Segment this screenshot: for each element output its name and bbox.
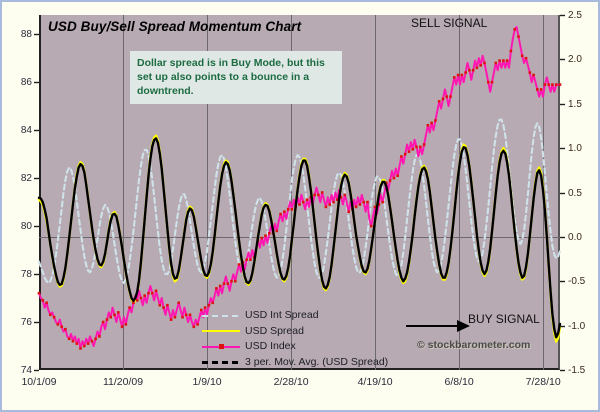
x-axis-label: 7/28/10: [508, 376, 578, 388]
series-marker-usd-index: [170, 318, 173, 321]
legend-swatch: [202, 341, 240, 353]
x-axis-label: 4/19/10: [340, 376, 410, 388]
series-marker-usd-index: [302, 201, 305, 204]
series-marker-usd-index: [215, 287, 218, 290]
series-marker-usd-index: [147, 292, 150, 295]
series-marker-usd-index: [389, 179, 392, 182]
series-marker-usd-index: [193, 326, 196, 329]
series-marker-usd-index: [370, 225, 373, 228]
series-marker-usd-index: [464, 71, 467, 74]
y-axis-left-label: 74: [4, 365, 32, 376]
series-marker-usd-index: [423, 143, 426, 146]
series-marker-usd-index: [166, 304, 169, 307]
annotation-box: Dollar spread is in Buy Mode, but this s…: [130, 51, 342, 104]
series-marker-usd-index: [404, 153, 407, 156]
series-marker-usd-index: [177, 302, 180, 305]
series-marker-usd-index: [521, 55, 524, 58]
series-marker-usd-index: [91, 340, 94, 343]
series-marker-usd-index: [461, 74, 464, 77]
x-axis-label: 2/28/10: [256, 376, 326, 388]
series-marker-usd-index: [449, 95, 452, 98]
series-marker-usd-index: [476, 67, 479, 70]
series-marker-usd-index: [268, 232, 271, 235]
series-marker-usd-index: [121, 326, 124, 329]
series-marker-usd-index: [60, 326, 63, 329]
series-marker-usd-index: [113, 314, 116, 317]
series-marker-usd-index: [219, 285, 222, 288]
series-marker-usd-index: [525, 57, 528, 60]
y-axis-left-label: 88: [4, 29, 32, 40]
y-axis-left-label: 78: [4, 269, 32, 280]
series-marker-usd-index: [83, 345, 86, 348]
series-marker-usd-index: [291, 208, 294, 211]
series-marker-usd-index: [79, 347, 82, 350]
y-axis-right-label: 0.0: [568, 232, 600, 243]
series-marker-usd-index: [76, 342, 79, 345]
watermark: © stockbarometer.com: [417, 339, 530, 351]
series-marker-usd-index: [438, 100, 441, 103]
y-axis-right-label: 1.5: [568, 99, 600, 110]
series-marker-usd-index: [57, 323, 60, 326]
series-marker-usd-index: [49, 314, 52, 317]
series-marker-usd-index: [306, 198, 309, 201]
series-marker-usd-index: [109, 316, 112, 319]
series-marker-usd-index: [468, 69, 471, 72]
series-marker-usd-index: [355, 206, 358, 209]
series-marker-usd-index: [106, 318, 109, 321]
series-marker-usd-index: [196, 323, 199, 326]
series-marker-usd-index: [230, 280, 233, 283]
series-marker-usd-index: [211, 302, 214, 305]
series-marker-usd-index: [245, 258, 248, 261]
series-marker-usd-index: [536, 88, 539, 91]
series-marker-usd-index: [419, 146, 422, 149]
series-marker-usd-index: [276, 230, 279, 233]
series-marker-usd-index: [457, 74, 460, 77]
series-marker-usd-index: [366, 201, 369, 204]
series-marker-usd-index: [442, 98, 445, 101]
series-marker-usd-index: [434, 119, 437, 122]
series-marker-usd-index: [453, 76, 456, 79]
y-axis-left-label: 86: [4, 77, 32, 88]
series-marker-usd-index: [287, 208, 290, 211]
series-marker-usd-index: [396, 174, 399, 177]
legend-label: USD Index: [245, 339, 296, 355]
series-marker-usd-index: [87, 342, 90, 345]
y-axis-right-label: 0.5: [568, 188, 600, 199]
legend-label: USD Spread: [245, 324, 304, 340]
series-marker-usd-index: [143, 294, 146, 297]
series-marker-usd-index: [136, 299, 139, 302]
series-marker-usd-index: [332, 201, 335, 204]
series-marker-usd-index: [321, 191, 324, 194]
series-marker-usd-index: [151, 292, 154, 295]
series-marker-usd-index: [189, 314, 192, 317]
legend-item[interactable]: USD Index: [202, 339, 388, 355]
series-marker-usd-index: [260, 237, 263, 240]
chart-legend: USD Int SpreadUSD SpreadUSD Index3 per. …: [202, 308, 388, 370]
y-axis-left-label: 84: [4, 125, 32, 136]
series-marker-usd-index: [45, 302, 48, 305]
series-marker-usd-index: [283, 210, 286, 213]
series-marker-usd-index: [381, 201, 384, 204]
legend-swatch: [202, 310, 240, 322]
series-marker-usd-index: [547, 83, 550, 86]
series-marker-usd-index: [427, 124, 430, 127]
legend-item[interactable]: USD Spread: [202, 324, 388, 340]
chart-title: USD Buy/Sell Spread Momentum Chart: [48, 19, 301, 34]
y-axis-right-label: 2.5: [568, 10, 600, 21]
legend-label: 3 per. Mov. Avg. (USD Spread): [245, 355, 388, 371]
series-marker-usd-index: [502, 59, 505, 62]
series-marker-usd-index: [72, 340, 75, 343]
series-marker-usd-index: [117, 311, 120, 314]
series-marker-usd-index: [517, 35, 520, 38]
series-marker-usd-index: [53, 316, 56, 319]
series-marker-usd-index: [362, 201, 365, 204]
series-marker-usd-index: [68, 338, 71, 341]
series-marker-usd-index: [445, 95, 448, 98]
series-marker-usd-index: [495, 62, 498, 65]
x-axis-label: 1/9/10: [172, 376, 242, 388]
series-marker-usd-index: [208, 304, 211, 307]
series-marker-usd-index: [102, 321, 105, 324]
series-marker-usd-index: [98, 335, 101, 338]
y-axis-right-label: 2.0: [568, 54, 600, 65]
series-marker-usd-index: [487, 81, 490, 84]
chart-screenshot: USD Buy/Sell Spread Momentum Chart Dolla…: [0, 0, 600, 412]
series-marker-usd-index: [344, 194, 347, 197]
series-marker-usd-index: [529, 71, 532, 74]
series-marker-usd-index: [181, 316, 184, 319]
series-marker-usd-index: [227, 282, 230, 285]
series-marker-usd-index: [162, 306, 165, 309]
y-axis-left-label: 76: [4, 317, 32, 328]
series-marker-usd-index: [532, 74, 535, 77]
series-marker-usd-index: [155, 290, 158, 293]
legend-swatch: [202, 325, 240, 337]
y-axis-right-label: -1.0: [568, 321, 600, 332]
legend-item[interactable]: USD Int Spread: [202, 308, 388, 324]
series-marker-usd-index: [125, 323, 128, 326]
y-axis-left-label: 80: [4, 221, 32, 232]
series-marker-usd-index: [328, 203, 331, 206]
series-marker-usd-index: [234, 280, 237, 283]
series-marker-usd-index: [174, 316, 177, 319]
series-marker-usd-index: [540, 88, 543, 91]
x-axis-label: 11/20/09: [88, 376, 158, 388]
series-marker-usd-index: [313, 194, 316, 197]
series-marker-usd-index: [559, 83, 562, 86]
series-marker-usd-index: [238, 263, 241, 266]
series-marker-usd-index: [412, 148, 415, 151]
series-marker-usd-index: [298, 203, 301, 206]
series-marker-usd-index: [479, 64, 482, 67]
series-marker-usd-index: [498, 59, 501, 62]
series-marker-usd-index: [400, 155, 403, 158]
series-marker-usd-index: [359, 203, 362, 206]
series-marker-usd-index: [42, 299, 45, 302]
sell-signal-label: SELL SIGNAL: [411, 16, 487, 30]
series-marker-usd-index: [140, 297, 143, 300]
series-marker-usd-index: [491, 81, 494, 84]
series-marker-usd-index: [472, 69, 475, 72]
y-axis-right-label: 1.0: [568, 143, 600, 154]
series-marker-usd-index: [325, 206, 328, 209]
series-marker-usd-index: [347, 210, 350, 213]
series-marker-usd-index: [317, 194, 320, 197]
series-marker-usd-index: [544, 83, 547, 86]
series-marker-usd-index: [483, 62, 486, 65]
series-marker-usd-index: [279, 213, 282, 216]
series-marker-usd-index: [249, 258, 252, 261]
series-marker-usd-index: [393, 177, 396, 180]
y-axis-left-label: 82: [4, 173, 32, 184]
series-marker-usd-index: [408, 150, 411, 153]
series-marker-usd-index: [94, 338, 97, 341]
series-marker-usd-index: [506, 59, 509, 62]
legend-item[interactable]: 3 per. Mov. Avg. (USD Spread): [202, 355, 388, 371]
series-marker-usd-index: [513, 28, 516, 31]
series-marker-usd-index: [38, 292, 41, 295]
buy-signal-label: BUY SIGNAL: [468, 312, 540, 326]
series-marker-usd-index: [551, 83, 554, 86]
y-axis-right-label: -1.5: [568, 365, 600, 376]
y-axis-right-label: -0.5: [568, 276, 600, 287]
series-marker-usd-index: [555, 83, 558, 86]
series-marker-usd-index: [128, 306, 131, 309]
legend-label: USD Int Spread: [245, 308, 319, 324]
series-marker-usd-index: [430, 122, 433, 125]
series-marker-usd-index: [223, 282, 226, 285]
series-marker-usd-index: [510, 50, 513, 53]
legend-swatch: [202, 356, 240, 368]
series-marker-usd-index: [264, 234, 267, 237]
x-axis-label: 10/1/09: [4, 376, 74, 388]
series-marker-usd-index: [64, 328, 67, 331]
series-marker-usd-index: [185, 314, 188, 317]
x-axis-label: 6/8/10: [424, 376, 494, 388]
series-marker-usd-index: [159, 304, 162, 307]
series-marker-usd-index: [415, 146, 418, 149]
